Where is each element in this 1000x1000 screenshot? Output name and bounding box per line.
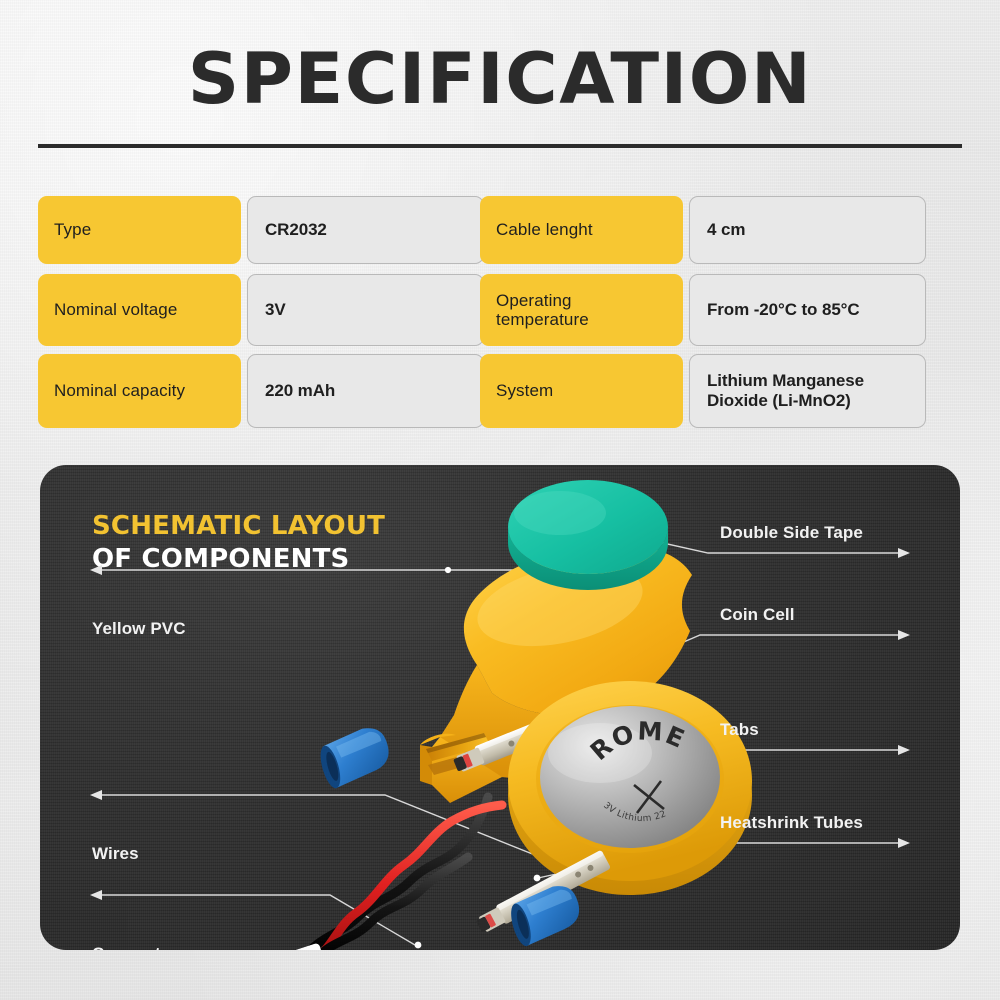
spec-value-cable-lenght: 4 cm bbox=[689, 196, 926, 264]
page-background: SPECIFICATION Type CR2032 Nominal voltag… bbox=[0, 0, 1000, 1000]
callout-label-double-side-tape: Double Side Tape bbox=[720, 523, 863, 543]
spec-row: Nominal voltage 3V bbox=[38, 274, 484, 346]
spec-row: Type CR2032 bbox=[38, 196, 484, 264]
spec-column-right: Cable lenght 4 cm Operating temperature … bbox=[480, 196, 926, 428]
callout-label-heatshrink-tubes: Heatshrink Tubes bbox=[720, 813, 863, 833]
callout-label-coin-cell: Coin Cell bbox=[720, 605, 795, 625]
wires bbox=[302, 797, 502, 950]
schematic-panel: SCHEMATIC LAYOUT OF COMPONENTS bbox=[40, 465, 960, 950]
spec-key-nominal-capacity: Nominal capacity bbox=[38, 354, 241, 428]
spec-row: System Lithium Manganese Dioxide (Li-MnO… bbox=[480, 354, 926, 428]
spec-key-operating-temperature: Operating temperature bbox=[480, 274, 683, 346]
spec-key-system: System bbox=[480, 354, 683, 428]
callout-label-yellow-pvc: Yellow PVC bbox=[92, 619, 186, 639]
spec-row: Operating temperature From -20°C to 85°C bbox=[480, 274, 926, 346]
spec-value-type: CR2032 bbox=[247, 196, 484, 264]
title-divider bbox=[38, 144, 962, 148]
spec-value-operating-temperature: From -20°C to 85°C bbox=[689, 274, 926, 346]
spec-value-system: Lithium Manganese Dioxide (Li-MnO2) bbox=[689, 354, 926, 428]
spec-key-cable-lenght: Cable lenght bbox=[480, 196, 683, 264]
specification-table: Type CR2032 Nominal voltage 3V Nominal c… bbox=[38, 196, 962, 428]
callout-label-tabs: Tabs bbox=[720, 720, 759, 740]
spec-value-nominal-voltage: 3V bbox=[247, 274, 484, 346]
heatshrink-tube-upper bbox=[315, 723, 395, 790]
double-side-tape bbox=[508, 480, 668, 590]
spec-row: Cable lenght 4 cm bbox=[480, 196, 926, 264]
callout-label-connector: Connector bbox=[92, 944, 178, 950]
spec-row: Nominal capacity 220 mAh bbox=[38, 354, 484, 428]
spec-key-type: Type bbox=[38, 196, 241, 264]
leader-arrowheads-right bbox=[898, 548, 910, 848]
spec-key-nominal-voltage: Nominal voltage bbox=[38, 274, 241, 346]
spec-column-left: Type CR2032 Nominal voltage 3V Nominal c… bbox=[38, 196, 484, 428]
callout-label-wires: Wires bbox=[92, 844, 139, 864]
heatshrink-tube-lower bbox=[506, 881, 586, 948]
spec-value-nominal-capacity: 220 mAh bbox=[247, 354, 484, 428]
page-title: SPECIFICATION bbox=[0, 44, 1000, 114]
